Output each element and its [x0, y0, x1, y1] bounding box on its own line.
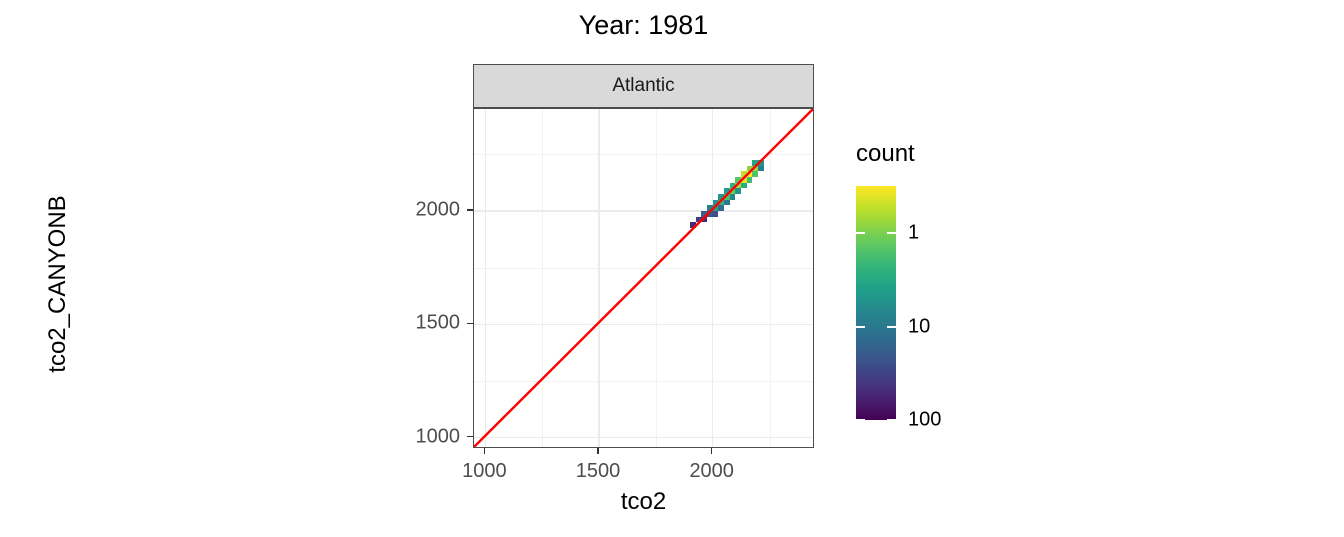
y-tick-label: 1000: [416, 425, 461, 448]
legend-tick-mark: [856, 326, 865, 328]
y-axis-title: tco2_CANYONB: [44, 114, 72, 454]
legend-tick-mark: [856, 232, 865, 234]
legend-title: count: [856, 140, 915, 168]
plot-panel: [473, 108, 814, 448]
legend-tick-label: 1: [908, 222, 919, 245]
legend-tick-mark: [887, 232, 896, 234]
y-tick-label: 1500: [416, 312, 461, 335]
legend-tick-label: 10: [908, 315, 930, 338]
x-tick-label: 2000: [689, 460, 734, 483]
x-tick-label: 1000: [462, 460, 507, 483]
y-tick-label: 2000: [416, 199, 461, 222]
legend-tick-mark: [887, 419, 896, 421]
x-tick-label: 1500: [576, 460, 621, 483]
legend-tick-mark: [887, 326, 896, 328]
legend-tick-mark: [856, 419, 865, 421]
facet-strip-atlantic: Atlantic: [473, 64, 814, 108]
y-tick-mark: [467, 323, 473, 325]
y-tick-mark: [467, 209, 473, 211]
legend-colorbar: [856, 186, 896, 420]
x-tick-mark: [484, 448, 486, 454]
chart-root: Year: 1981 Atlantic 100015002000 1000150…: [0, 0, 1344, 537]
identity-line: [474, 109, 813, 447]
y-tick-mark: [467, 436, 473, 438]
x-tick-mark: [711, 448, 713, 454]
x-axis-title: tco2: [473, 488, 814, 516]
x-tick-mark: [597, 448, 599, 454]
legend-tick-label: 100: [908, 409, 941, 432]
facet-strip-label: Atlantic: [612, 75, 674, 97]
page-title: Year: 1981: [473, 10, 814, 41]
